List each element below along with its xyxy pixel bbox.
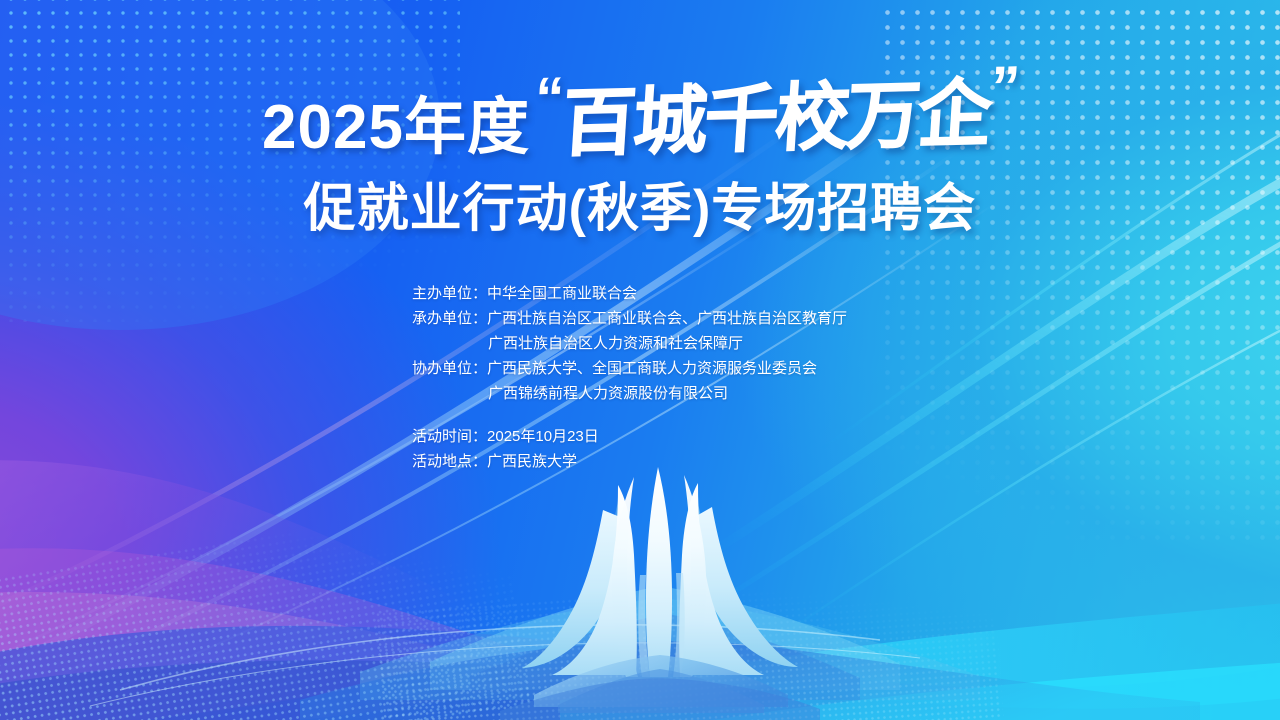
quote-open: “ — [533, 65, 566, 131]
host-value: 中华全国工商业联合会 — [487, 285, 637, 302]
organizer-row-2: 广西壮族自治区人力资源和社会保障厅 — [412, 331, 932, 356]
halftone-dots-bottom-left — [0, 497, 533, 720]
poster-stage: 2025年度 “百城千校万企” 促就业行动(秋季)专场招聘会 主办单位：中华全国… — [0, 0, 1280, 720]
organizer-value: 广西壮族自治区工商业联合会、广西壮族自治区教育厅 — [487, 310, 847, 327]
title-row: 2025年度 “百城千校万企” — [0, 72, 1280, 164]
coorganizer-label: 协办单位： — [412, 360, 487, 377]
poster-headline: 2025年度 “百城千校万企” 促就业行动(秋季)专场招聘会 — [0, 72, 1280, 241]
coorganizer-row: 协办单位：广西民族大学、全国工商联人力资源服务业委员会 — [412, 356, 932, 381]
event-info-block: 主办单位：中华全国工商业联合会 承办单位：广西壮族自治区工商业联合会、广西壮族自… — [412, 281, 932, 474]
five-petal-landmark-icon — [500, 455, 820, 720]
event-place-value: 广西民族大学 — [487, 453, 577, 470]
organizer-value-2: 广西壮族自治区人力资源和社会保障厅 — [488, 335, 743, 352]
host-row: 主办单位：中华全国工商业联合会 — [412, 281, 932, 306]
info-spacer — [412, 406, 932, 424]
title-year: 2025年度 — [262, 97, 530, 159]
event-place-label: 活动地点： — [412, 453, 487, 470]
event-time-value: 2025年10月23日 — [487, 428, 599, 445]
brush-title: 百城千校万企 — [559, 70, 991, 166]
event-time-label: 活动时间： — [412, 428, 487, 445]
coorganizer-row-2: 广西锦绣前程人力资源股份有限公司 — [412, 381, 932, 406]
coorganizer-value-2: 广西锦绣前程人力资源股份有限公司 — [488, 385, 728, 402]
event-time-row: 活动时间：2025年10月23日 — [412, 424, 932, 449]
organizer-row: 承办单位：广西壮族自治区工商业联合会、广西壮族自治区教育厅 — [412, 306, 932, 331]
poster-subtitle: 促就业行动(秋季)专场招聘会 — [0, 166, 1280, 241]
organizer-label: 承办单位： — [412, 310, 487, 327]
host-label: 主办单位： — [412, 285, 487, 302]
halftone-dots-bottom-center — [375, 569, 1005, 720]
brush-title-group: “百城千校万企” — [530, 53, 1022, 172]
coorganizer-value: 广西民族大学、全国工商联人力资源服务业委员会 — [487, 360, 817, 377]
quote-close: ” — [989, 54, 1022, 120]
event-place-row: 活动地点：广西民族大学 — [412, 449, 932, 474]
